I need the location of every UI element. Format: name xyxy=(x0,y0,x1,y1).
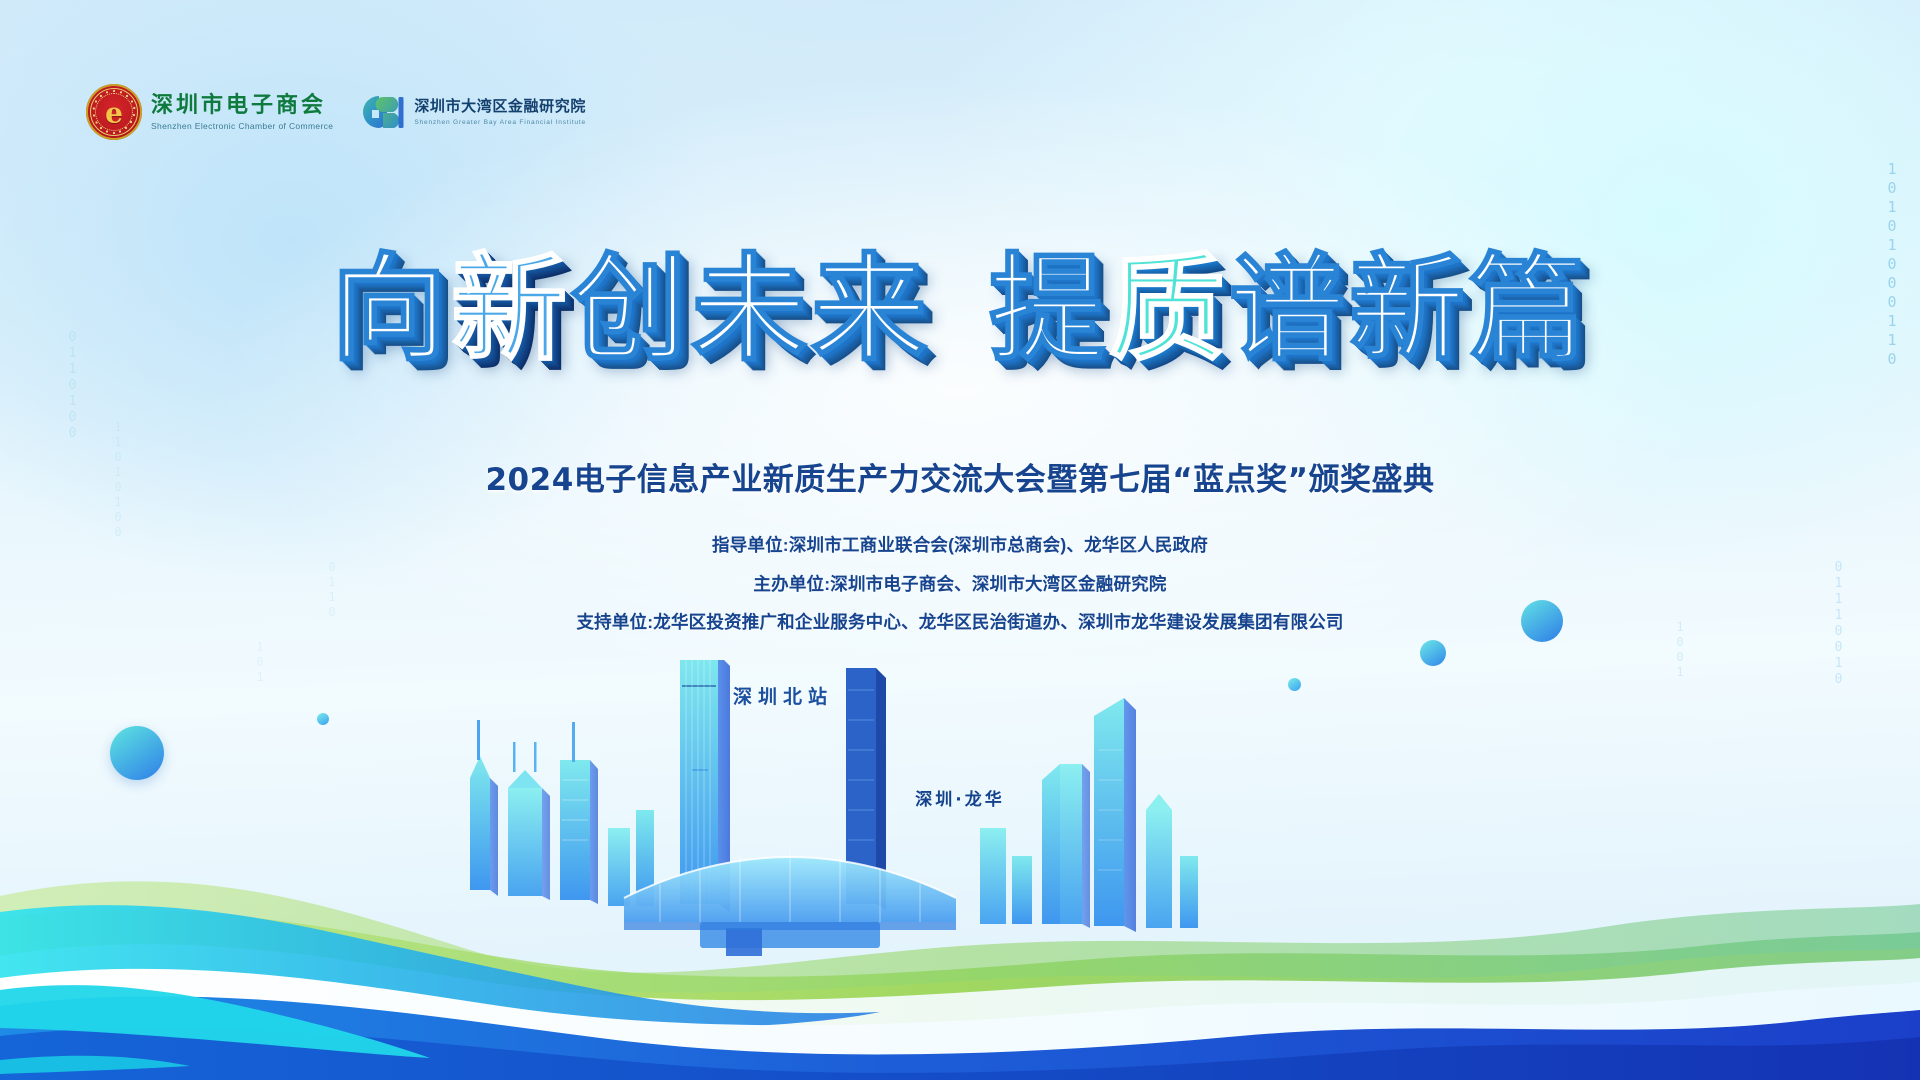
poster-canvas: 10101000110 01110010 1001 0110100 110101… xyxy=(0,0,1920,1080)
skyline-illustration xyxy=(0,660,1920,1080)
logo-2-name-en: Shenzhen Greater Bay Area Financial Inst… xyxy=(414,119,586,126)
seal-letter-e-icon: e xyxy=(105,97,123,130)
title-seg-6: 谱新篇 xyxy=(1229,242,1589,377)
red-gold-seal-icon: e xyxy=(86,84,142,140)
logo-shenzhen-electronic-chamber: e 深圳市电子商会 Shenzhen Electronic Chamber of… xyxy=(86,84,333,140)
decor-sphere-right-1 xyxy=(1420,640,1446,666)
subtitle-block: 2024电子信息产业新质生产力交流大会暨第七届“蓝点奖”颁奖盛典 xyxy=(0,454,1920,499)
logo-1-name-en: Shenzhen Electronic Chamber of Commerce xyxy=(151,121,333,131)
seal-dots-icon xyxy=(86,84,142,140)
decor-sphere-small-left xyxy=(317,713,329,725)
title-seg-3: 创未来 xyxy=(571,242,931,377)
title-seg-2: 新 xyxy=(451,242,571,377)
logo-2-name-cn: 深圳市大湾区金融研究院 xyxy=(414,98,586,115)
gbi-mark-icon xyxy=(357,91,405,133)
logo-bar: e 深圳市电子商会 Shenzhen Electronic Chamber of… xyxy=(86,84,586,140)
subtitle: 2024电子信息产业新质生产力交流大会暨第七届“蓝点奖”颁奖盛典 xyxy=(485,454,1434,499)
landmark-label: 深圳北站 xyxy=(733,682,833,709)
organizer-block: 指导单位:深圳市工商业联合会(深圳市总商会)、龙华区人民政府 主办单位:深圳市电… xyxy=(0,537,1920,653)
title-seg-1: 向 xyxy=(331,242,451,377)
organizer-line-host: 主办单位:深圳市电子商会、深圳市大湾区金融研究院 xyxy=(0,576,1920,594)
logo-1-name-cn: 深圳市电子商会 xyxy=(151,93,333,119)
title-seg-5: 质 xyxy=(1109,242,1229,377)
organizer-line-support: 支持单位:龙华区投资推广和企业服务中心、龙华区民治街道办、深圳市龙华建设发展集团… xyxy=(0,614,1920,632)
main-title-block: 向新创未来提质谱新篇 xyxy=(0,252,1920,368)
title-seg-4: 提 xyxy=(989,242,1109,377)
main-title: 向新创未来提质谱新篇 xyxy=(331,252,1589,368)
decor-sphere-large-left xyxy=(110,726,164,780)
decor-sphere-right-2 xyxy=(1521,600,1563,642)
city-label: 深圳·龙华 xyxy=(0,785,1920,810)
decor-sphere-small-center xyxy=(1288,678,1301,691)
logo-gbi-institute: 深圳市大湾区金融研究院 Shenzhen Greater Bay Area Fi… xyxy=(357,91,586,133)
organizer-line-guidance: 指导单位:深圳市工商业联合会(深圳市总商会)、龙华区人民政府 xyxy=(0,537,1920,555)
